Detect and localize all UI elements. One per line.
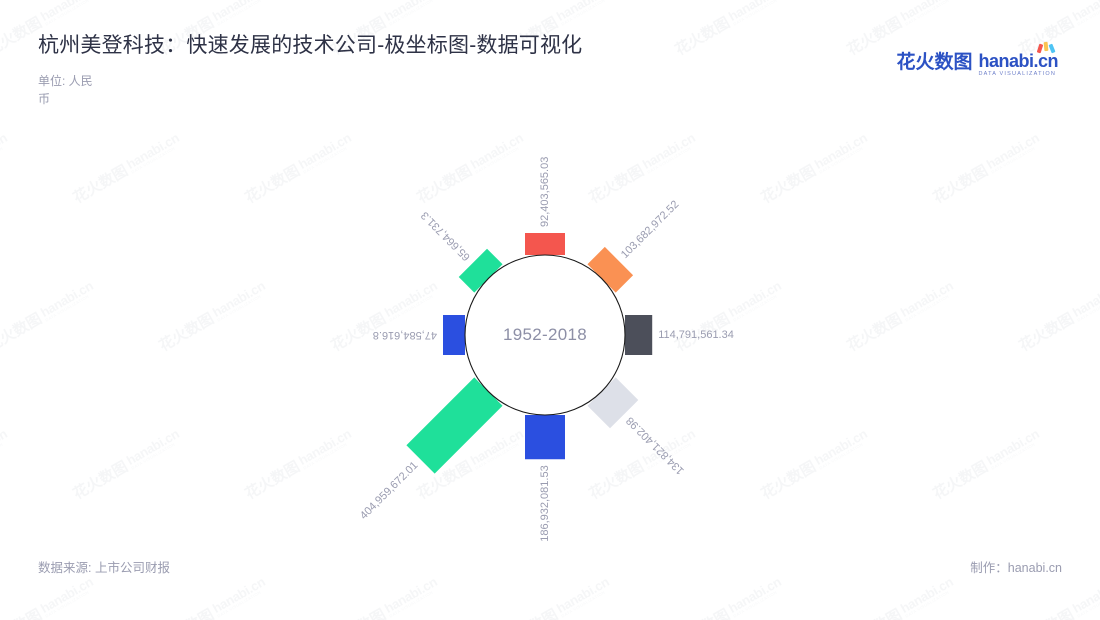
polar-bar[interactable] (625, 315, 652, 355)
brand-logo: 花火数图 hanabi.cn DATA VISUALIZATION (896, 52, 1058, 78)
polar-bar-value-label: 404,959,672.01 (358, 459, 421, 522)
logo-tagline: DATA VISUALIZATION (978, 72, 1058, 78)
polar-bar-value-label: 114,791,561.34 (658, 329, 734, 341)
logo-spark-icon-2 (1044, 42, 1049, 51)
polar-bar-value-label: 47,584,616.8 (373, 329, 437, 341)
footer-credit: 制作：hanabi.cn (970, 557, 1062, 576)
polar-bar-value-label: 92,403,565.03 (539, 157, 551, 227)
polar-bar[interactable] (525, 233, 565, 255)
chart-canvas: 花火数图hanabi.cnDATA VISUALIZATION花火数图hanab… (0, 0, 1100, 620)
polar-bar[interactable] (525, 415, 565, 459)
polar-bar-value-label: 103,682,972.52 (619, 198, 682, 261)
chart-header: 杭州美登科技：快速发展的技术公司-极坐标图-数据可视化 单位: 人民币 (38, 32, 582, 108)
page-title: 杭州美登科技：快速发展的技术公司-极坐标图-数据可视化 (38, 32, 582, 59)
polar-bar-value-label: 65,664,731.3 (419, 209, 473, 263)
logo-cn-glyphs: 花火数图 (896, 51, 972, 73)
logo-english-text: hanabi.cn (978, 52, 1058, 70)
logo-english-block: hanabi.cn DATA VISUALIZATION (978, 52, 1058, 78)
logo-chinese-text: 花火数图 (896, 53, 972, 72)
polar-bar-value-label: 134,821,402.98 (624, 414, 687, 477)
center-range-label: 1952-2018 (503, 325, 587, 345)
polar-bar-value-label: 186,932,081.53 (539, 465, 551, 541)
chart-subtitle: 单位: 人民币 (38, 73, 102, 108)
footer-source: 数据来源: 上市公司财报 (38, 557, 170, 576)
polar-bar[interactable] (443, 315, 465, 355)
